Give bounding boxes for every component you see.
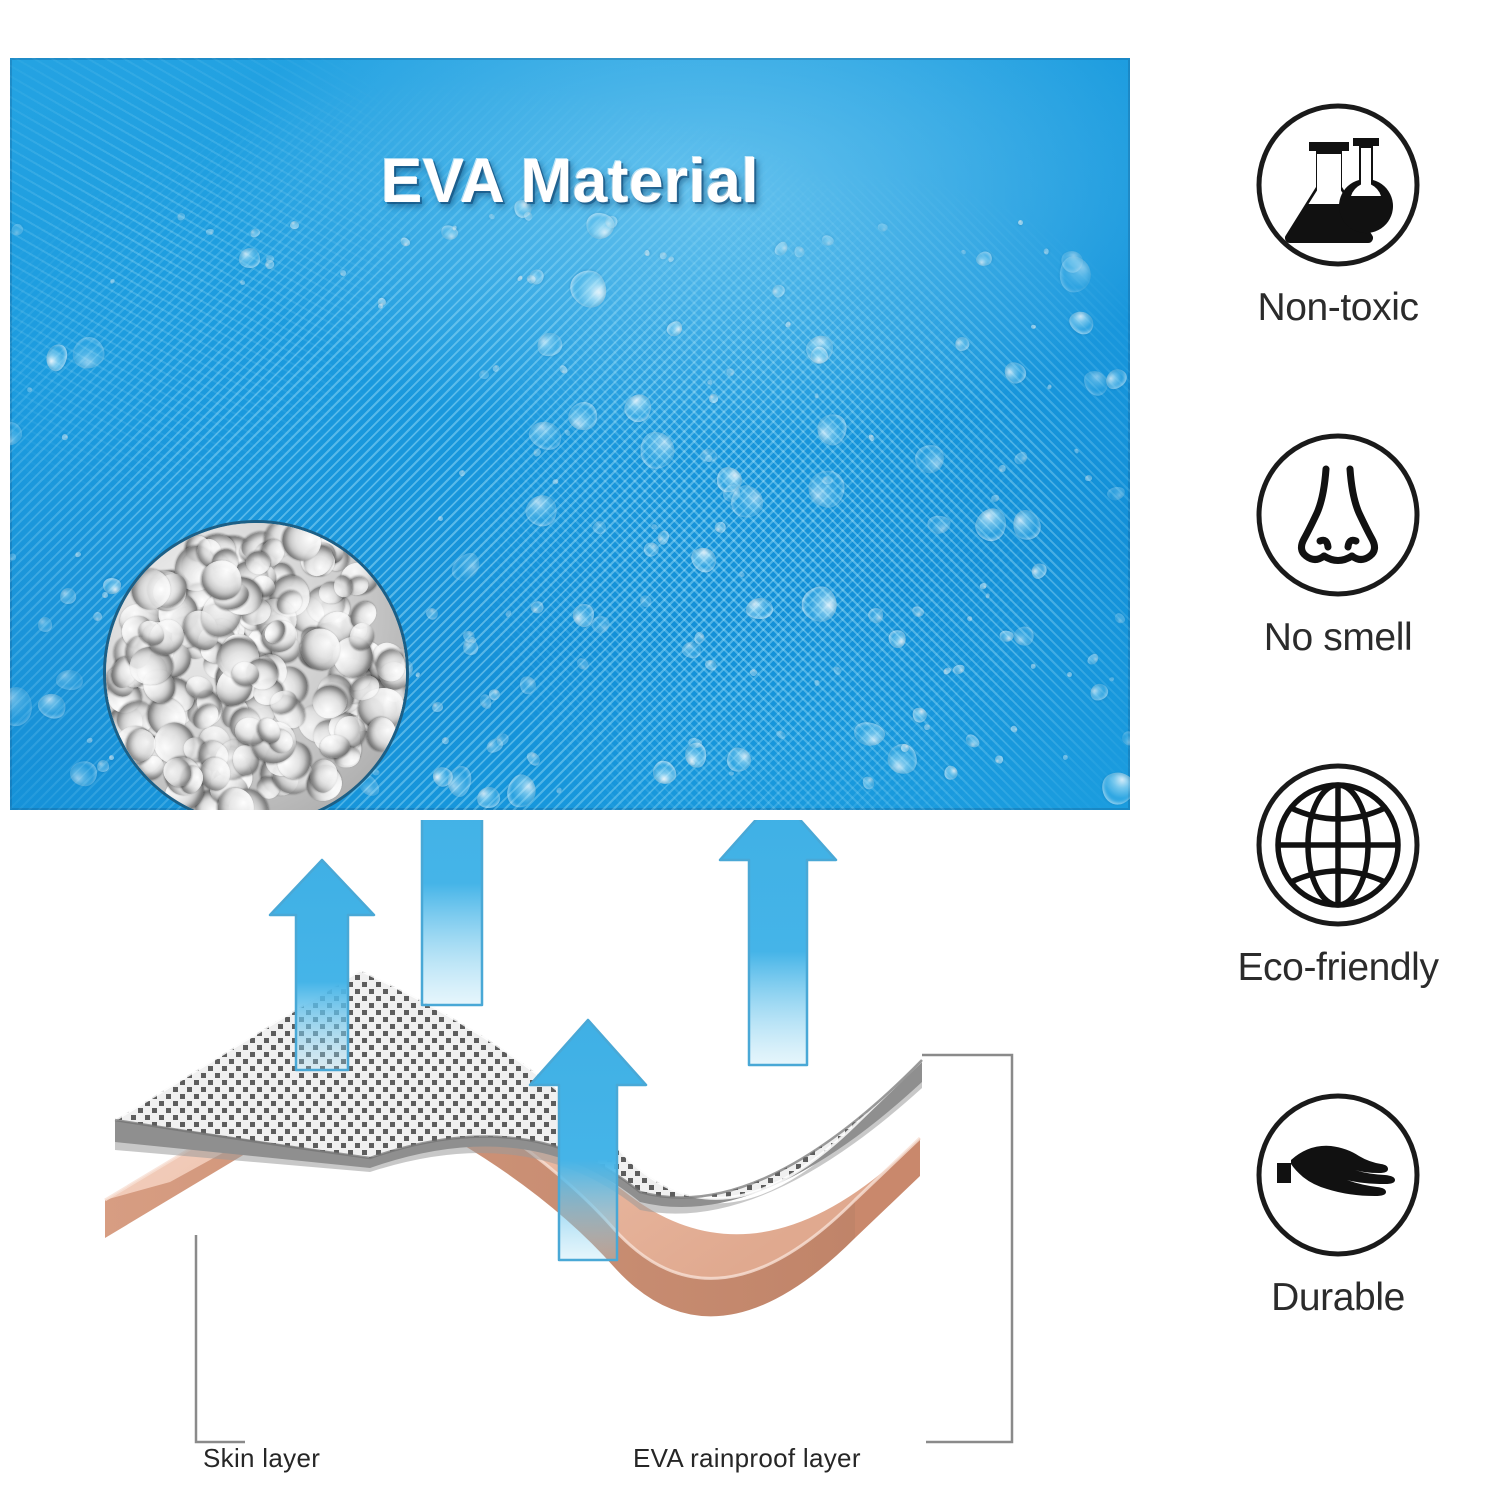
water-droplet [998, 465, 1006, 473]
water-droplet [867, 606, 886, 625]
water-droplet [10, 685, 35, 728]
water-droplet [927, 516, 951, 534]
water-droplet [563, 263, 614, 315]
water-droplet [534, 330, 565, 360]
feature-icon-column: Non-toxic No smell [1176, 94, 1500, 1394]
water-droplet [1096, 766, 1130, 809]
water-droplet [446, 764, 473, 798]
water-droplet [620, 389, 656, 426]
arrow-up [392, 820, 512, 1005]
water-droplet [239, 248, 261, 269]
water-droplet [703, 657, 718, 671]
water-droplet [726, 367, 736, 377]
water-droplet [526, 417, 567, 455]
water-droplet [714, 521, 726, 532]
water-droplet [852, 720, 887, 748]
eva-resin-pellets-inset [103, 520, 409, 810]
water-droplet [1112, 612, 1126, 626]
resin-pellet [200, 757, 231, 791]
water-droplet [749, 668, 759, 678]
arrow-up [720, 820, 836, 1065]
water-droplet [1085, 475, 1093, 482]
water-droplet [656, 529, 670, 546]
water-droplet [1047, 384, 1052, 390]
water-droplet [66, 331, 111, 376]
feature-no-smell: No smell [1176, 424, 1500, 660]
water-droplet [479, 369, 490, 379]
water-droplet [70, 761, 97, 786]
water-droplet [1106, 485, 1127, 502]
water-droplet [564, 399, 601, 435]
water-droplet [639, 430, 676, 469]
water-droplet [75, 550, 83, 557]
water-droplet [43, 343, 69, 374]
water-droplet [943, 765, 958, 780]
water-droplet [1000, 630, 1014, 642]
page-title: EVA Material [10, 146, 1130, 217]
water-droplet [440, 224, 461, 243]
water-droplet [910, 706, 929, 725]
water-droplet [684, 742, 706, 768]
water-droplet [290, 220, 300, 229]
water-droplet [398, 236, 411, 248]
resin-pellet [320, 734, 350, 758]
water-droplet [458, 468, 467, 477]
water-droplet [1000, 358, 1029, 387]
resin-pellet [301, 628, 340, 670]
eva-material-hero-panel: EVA Material [10, 58, 1130, 810]
water-droplet [637, 593, 653, 609]
water-droplet [518, 675, 538, 696]
water-droplet [1013, 450, 1031, 467]
water-droplet [1059, 255, 1091, 292]
water-droplet [807, 469, 846, 509]
water-droplet [877, 224, 887, 232]
water-droplet [505, 609, 513, 618]
water-droplet [530, 600, 546, 615]
water-droplet [659, 251, 668, 260]
water-droplet [1108, 676, 1114, 682]
water-droplet [239, 279, 246, 286]
water-droplet [775, 729, 787, 740]
water-droplet [249, 228, 261, 239]
water-droplet [61, 433, 69, 441]
feature-label: Non-toxic [1176, 286, 1500, 330]
water-droplet [667, 256, 674, 263]
nose-icon [1247, 424, 1429, 606]
water-droplet [963, 733, 981, 751]
water-droplet [1029, 561, 1050, 582]
water-droplet [728, 772, 734, 776]
water-droplet [447, 549, 485, 587]
water-droplet [887, 627, 909, 650]
water-droplet [551, 478, 559, 485]
water-droplet [522, 491, 561, 530]
water-droplet [556, 787, 563, 794]
water-droplet [726, 747, 752, 774]
water-droplet [1073, 448, 1079, 455]
water-droplet [1079, 366, 1112, 400]
feature-label: No smell [1176, 616, 1500, 660]
water-droplet [516, 275, 523, 282]
water-droplet [491, 364, 500, 373]
water-droplet [1065, 307, 1098, 339]
water-droplet [708, 393, 718, 403]
water-droplet [901, 744, 909, 752]
water-droplet [55, 669, 83, 691]
water-droplet [1031, 325, 1036, 329]
water-droplet [861, 775, 876, 791]
water-droplet [91, 610, 104, 623]
water-droplet [592, 519, 608, 535]
water-droplet [1086, 652, 1101, 667]
water-droplet [820, 234, 834, 247]
water-droplet [110, 278, 117, 285]
feature-eco-friendly: Eco-friendly [1176, 754, 1500, 990]
water-droplet [377, 304, 383, 310]
water-droplet [86, 737, 93, 744]
water-droplet [415, 672, 420, 678]
water-droplet [979, 582, 988, 590]
water-droplet [1120, 728, 1130, 748]
fabric-layer-diagram [60, 820, 1120, 1500]
water-droplet [1067, 672, 1073, 678]
water-droplet [910, 605, 925, 619]
water-droplet [10, 222, 25, 238]
water-droplet [739, 570, 746, 578]
water-droplet [10, 553, 17, 561]
water-droplet [1010, 725, 1019, 734]
water-droplet [911, 441, 948, 478]
feature-non-toxic: Non-toxic [1176, 94, 1500, 330]
feature-label: Durable [1176, 1276, 1500, 1320]
water-droplet [814, 680, 820, 687]
water-droplet [814, 411, 849, 448]
water-droplet [942, 666, 952, 675]
water-droplet [441, 735, 450, 744]
water-droplet [746, 597, 774, 619]
water-droplet [1009, 507, 1045, 544]
water-droplet [814, 393, 819, 399]
water-droplet [923, 724, 930, 730]
water-droplet [37, 616, 53, 633]
water-droplet [700, 448, 718, 462]
water-droplet [665, 318, 686, 339]
water-droplet [532, 447, 542, 458]
water-droplet [1063, 754, 1069, 760]
water-droplet [563, 428, 571, 437]
feature-durable: Durable [1176, 1084, 1500, 1320]
flask-icon [1247, 94, 1429, 276]
water-droplet [952, 663, 966, 675]
water-droplet [974, 249, 994, 268]
feature-label: Eco-friendly [1176, 946, 1500, 990]
water-droplet [707, 380, 713, 386]
water-droplet [1031, 664, 1036, 669]
water-droplet [794, 246, 805, 259]
water-droplet [1012, 625, 1035, 647]
water-droplet [960, 249, 967, 256]
water-droplet [205, 228, 214, 235]
water-droplet [971, 503, 1012, 545]
water-droplet [784, 321, 792, 329]
water-droplet [687, 543, 721, 577]
water-droplet [990, 494, 1000, 503]
eva-rainproof-layer-label: EVA rainproof layer [633, 1443, 861, 1474]
water-droplet [424, 606, 440, 622]
water-droplet [59, 586, 78, 605]
water-droplet [504, 772, 539, 810]
water-droplet [966, 615, 973, 622]
water-droplet [995, 756, 1003, 764]
water-droplet [34, 690, 70, 723]
skin-layer-label: Skin layer [203, 1443, 320, 1474]
water-droplet [772, 239, 790, 257]
water-droplet [641, 541, 660, 559]
water-droplet [769, 282, 786, 300]
water-droplet [10, 417, 27, 450]
water-droplet [795, 579, 845, 629]
water-droplet [558, 364, 569, 375]
water-droplet [1087, 681, 1111, 704]
water-droplet [985, 593, 990, 599]
hand-icon [1247, 1084, 1429, 1266]
water-droplet [1043, 249, 1048, 255]
water-droplet [648, 757, 680, 789]
globe-icon [1247, 754, 1429, 936]
water-droplet [867, 434, 875, 443]
water-droplet [832, 665, 843, 676]
water-droplet [953, 334, 972, 353]
water-droplet [574, 656, 591, 673]
water-droplet [438, 516, 443, 521]
water-droplet [340, 270, 347, 277]
water-droplet [27, 387, 33, 392]
water-droplet [644, 250, 650, 257]
water-droplet [1017, 219, 1023, 226]
water-droplet [524, 750, 542, 768]
water-droplet [652, 524, 658, 529]
water-droplet [431, 701, 444, 713]
water-droplet [476, 785, 502, 810]
